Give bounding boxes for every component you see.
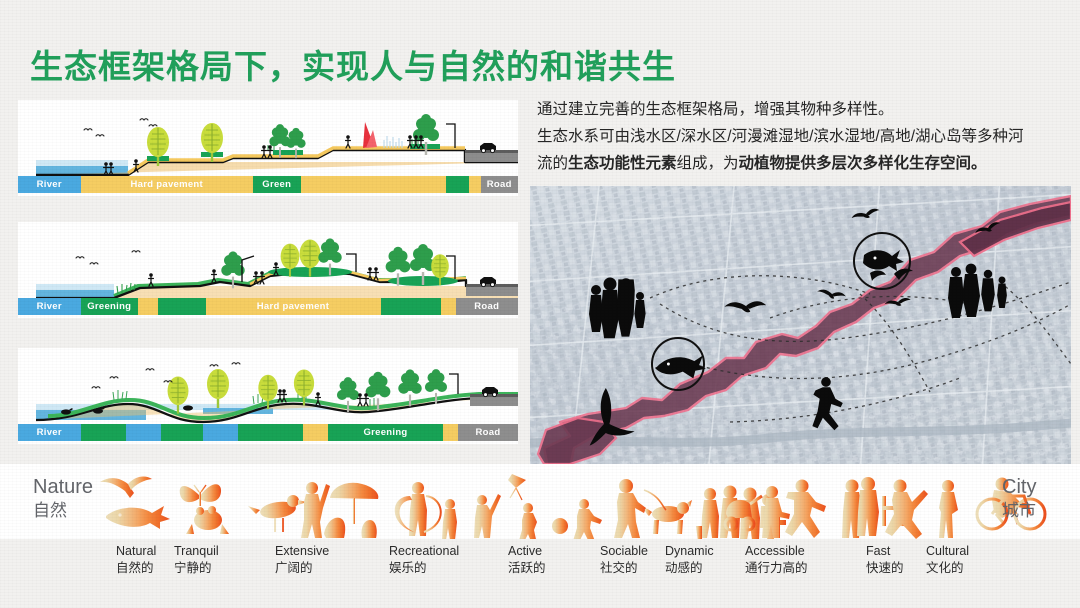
legend-segment [301,176,446,193]
caption-recreational: Recreational娱乐的 [389,543,459,577]
city-label: City 城市 [1002,475,1036,521]
legend-segment-greening: Greening [81,298,139,315]
description-line-3: 流的生态功能性元素组成，为动植物提供多层次多样化生存空间。 [537,150,1073,177]
legend-segment [441,298,456,315]
caption-cn: 社交的 [600,560,648,577]
legend-segment-road: Road [456,298,519,315]
caption-fast: Fast快速的 [866,543,904,577]
caption-en: Accessible [745,543,808,560]
nature-label-cn: 自然 [33,500,93,521]
legend-segment-hard-pavement: Hard pavement [81,176,254,193]
figure-soccer-ball [552,518,568,534]
caption-cn: 自然的 [116,560,156,577]
caption-en: Recreational [389,543,459,560]
ecological-corridor-map[interactable] [530,186,1071,464]
caption-en: Natural [116,543,156,560]
caption-en: Sociable [600,543,648,560]
spectrum-caption-row: Natural自然的Tranquil宁静的Extensive广阔的Recreat… [0,543,1080,588]
caption-en: Dynamic [665,543,714,560]
nature-label-en: Nature [33,475,93,500]
caption-dynamic: Dynamic动感的 [665,543,714,577]
legend-segment [158,298,206,315]
nature-to-city-spectrum-graphic [0,464,1080,539]
caption-accessible: Accessible通行力高的 [745,543,808,577]
description-line-3-a: 流的 [537,155,568,172]
caption-active: Active活跃的 [508,543,546,577]
legend-segment-river: River [18,176,81,193]
caption-en: Active [508,543,546,560]
legend-segment-greening: Greening [328,424,443,441]
legend-segment [446,176,469,193]
legend-segment [443,424,458,441]
caption-cultural: Cultural文化的 [926,543,969,577]
caption-cn: 动感的 [665,560,714,577]
page-title: 生态框架格局下，实现人与自然的和谐共生 [30,40,676,88]
city-label-cn: 城市 [1002,500,1036,521]
caption-en: Cultural [926,543,969,560]
legend-segment [303,424,328,441]
city-label-en: City [1002,475,1036,500]
caption-natural: Natural自然的 [116,543,156,577]
description-line-2: 生态水系可由浅水区/深水区/河漫滩湿地/滨水湿地/高地/湖心岛等多种河 [537,123,1073,150]
section-1-legend-bar: RiverHard pavementGreenRoad [18,176,518,193]
legend-segment [238,424,303,441]
legend-segment-road: Road [458,424,518,441]
description-line-1: 通过建立完善的生态框架格局，增强其物种多样性。 [537,96,1073,123]
description-line-3-b: 生态功能性元素 [568,155,677,172]
section-2-legend-bar: RiverGreeningHard pavementRoad [18,298,518,315]
caption-tranquil: Tranquil宁静的 [174,543,219,577]
legend-segment [81,424,126,441]
slide-canvas: 生态框架格局下，实现人与自然的和谐共生 通过建立完善的生态框架格局，增强其物种多… [0,0,1080,608]
caption-cn: 快速的 [866,560,904,577]
caption-cn: 广阔的 [275,560,329,577]
ecological-corridor-map-graphic [530,186,1071,464]
legend-segment-river: River [18,424,81,441]
caption-cn: 娱乐的 [389,560,459,577]
caption-extensive: Extensive广阔的 [275,543,329,577]
caption-en: Extensive [275,543,329,560]
legend-segment [469,176,481,193]
legend-segment-river: River [18,298,81,315]
legend-segment-hard-pavement: Hard pavement [206,298,381,315]
legend-segment [381,298,441,315]
description-line-3-d: 动植物提供多层次多样化生存空间。 [739,155,987,172]
nature-to-city-spectrum [0,464,1080,539]
caption-cn: 通行力高的 [745,560,808,577]
caption-cn: 宁静的 [174,560,219,577]
caption-en: Tranquil [174,543,219,560]
legend-segment [203,424,238,441]
nature-label: Nature 自然 [33,475,93,521]
section-3-legend-bar: RiverGreeningRoad [18,424,518,441]
caption-cn: 文化的 [926,560,969,577]
legend-segment [126,424,161,441]
legend-segment-road: Road [481,176,519,193]
legend-segment [161,424,204,441]
caption-en: Fast [866,543,904,560]
caption-sociable: Sociable社交的 [600,543,648,577]
legend-segment-green: Green [253,176,301,193]
description-line-3-c: 组成，为 [677,155,739,172]
description-text-block: 通过建立完善的生态框架格局，增强其物种多样性。 生态水系可由浅水区/深水区/河漫… [537,96,1073,177]
legend-segment [138,298,158,315]
caption-cn: 活跃的 [508,560,546,577]
